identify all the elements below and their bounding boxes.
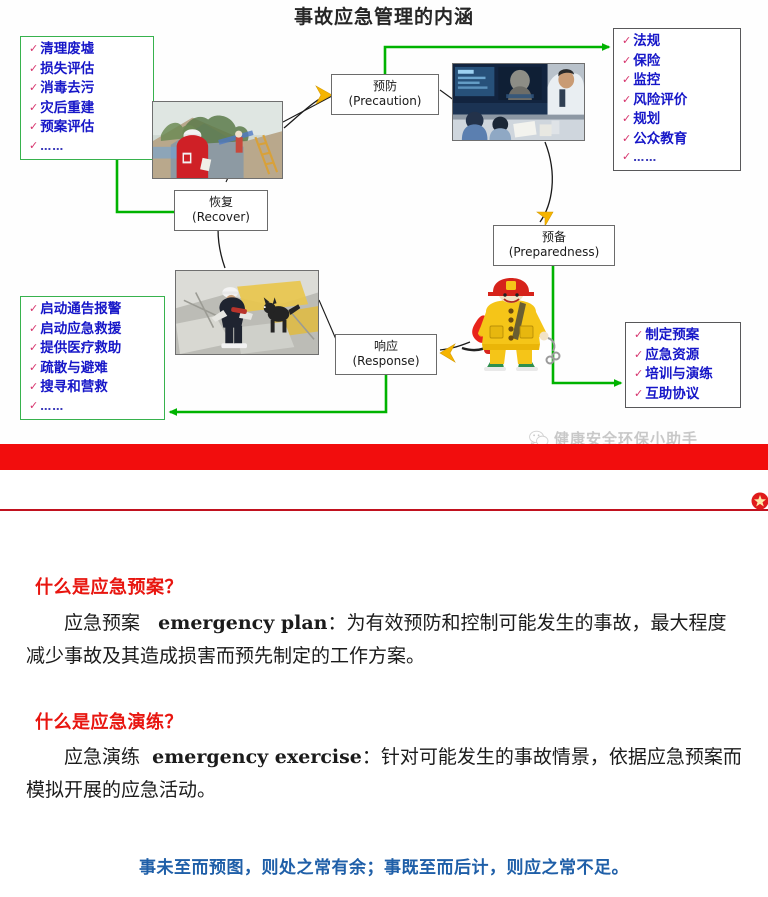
list-item: ✓ 灾后重建 (29, 102, 147, 116)
list-item: ✓ 风险评价 (622, 94, 734, 108)
list-item-label: 规划 (633, 113, 660, 127)
list-item: ✓ 启动通告报警 (29, 303, 158, 317)
list-item-label: 启动通告报警 (40, 303, 121, 317)
red-ornament-icon (749, 488, 768, 514)
check-icon: ✓ (29, 83, 38, 94)
list-item-label: 提供医疗救助 (40, 342, 121, 356)
firefighter-clipart (460, 278, 566, 378)
stage-label-cn: 预备 (496, 230, 612, 245)
list-item: ✓ 损失评估 (29, 63, 147, 77)
list-item: ✓ 提供医疗救助 (29, 342, 158, 356)
list-item: ✓ …… (29, 141, 147, 153)
list-item: ✓ 预案评估 (29, 121, 147, 135)
precaution-outputs-panel: ✓ 法规 ✓ 保险 ✓ 监控 ✓ 风险评价 ✓ 规划 ✓ 公众教育 ✓ …… (613, 28, 741, 171)
check-icon: ✓ (622, 75, 631, 86)
list-item-label: 预案评估 (40, 121, 94, 135)
check-icon: ✓ (29, 44, 38, 55)
check-icon: ✓ (29, 401, 38, 412)
check-icon: ✓ (29, 343, 38, 354)
list-item-label: 应急资源 (645, 349, 699, 363)
list-item-label: 灾后重建 (40, 102, 94, 116)
check-icon: ✓ (634, 350, 643, 361)
check-icon: ✓ (29, 324, 38, 335)
list-item: ✓ 启动应急救援 (29, 323, 158, 337)
para-exercise-en: emergency exercise (152, 746, 362, 768)
check-icon: ✓ (622, 152, 631, 163)
page-title: 事故应急管理的内涵 (0, 2, 768, 29)
check-icon: ✓ (29, 304, 38, 315)
list-item: ✓ 疏散与避难 (29, 362, 158, 376)
preparedness-outputs-panel: ✓ 制定预案 ✓ 应急资源 ✓ 培训与演练 ✓ 互助协议 (625, 322, 741, 408)
list-item-label: 损失评估 (40, 63, 94, 77)
check-icon: ✓ (29, 103, 38, 114)
check-icon: ✓ (622, 114, 631, 125)
red-divider-band (0, 444, 768, 470)
list-item: ✓ 清理废墟 (29, 43, 147, 57)
check-icon: ✓ (622, 134, 631, 145)
list-item-label: …… (40, 141, 64, 152)
check-icon: ✓ (29, 122, 38, 133)
list-item-label: 消毒去污 (40, 82, 94, 96)
red-divider-rule (0, 509, 768, 511)
list-item: ✓ 保险 (622, 55, 734, 69)
list-item-label: 监控 (633, 74, 660, 88)
para-plan-en: emergency plan (158, 612, 327, 634)
list-item: ✓ …… (29, 401, 158, 413)
closing-quote: 事未至而预图，则处之常有余；事既至而后计，则应之常不足。 (0, 853, 768, 878)
list-item-label: 启动应急救援 (40, 323, 121, 337)
list-item-label: 清理废墟 (40, 43, 94, 57)
stage-box-recover: 恢复 (Recover) (174, 190, 268, 231)
stage-box-preparedness: 预备 (Preparedness) (493, 225, 615, 266)
list-item-label: 互助协议 (645, 388, 699, 402)
stage-label-cn: 恢复 (177, 195, 265, 210)
heading-emergency-exercise: 什么是应急演练？ (35, 708, 183, 734)
stage-label-en: (Recover) (177, 210, 265, 225)
list-item: ✓ 互助协议 (634, 388, 734, 402)
stage-label-cn: 响应 (338, 339, 434, 354)
list-item-label: 风险评价 (633, 94, 687, 108)
list-item: ✓ 培训与演练 (634, 368, 734, 382)
check-icon: ✓ (29, 382, 38, 393)
para-exercise-lead: 应急演练 (64, 746, 140, 768)
list-item: ✓ 规划 (622, 113, 734, 127)
article-body: 什么是应急预案？ 应急预案 emergency plan：为有效预防和控制可能发… (0, 515, 768, 897)
list-item-label: 搜寻和营救 (40, 381, 108, 395)
list-item: ✓ 搜寻和营救 (29, 381, 158, 395)
stage-label-en: (Response) (338, 354, 434, 369)
paragraph-emergency-exercise: 应急演练 emergency exercise：针对可能发生的事故情景，依据应急… (26, 741, 744, 806)
list-item-label: …… (633, 152, 657, 163)
list-item-label: …… (40, 401, 64, 412)
list-item: ✓ …… (622, 152, 734, 164)
check-icon: ✓ (29, 363, 38, 374)
photo-command-meeting (452, 63, 585, 141)
stage-box-response: 响应 (Response) (335, 334, 437, 375)
recover-outputs-panel: ✓ 清理废墟 ✓ 损失评估 ✓ 消毒去污 ✓ 灾后重建 ✓ 预案评估 ✓ …… (20, 36, 154, 160)
check-icon: ✓ (634, 330, 643, 341)
stage-label-en: (Precaution) (334, 94, 436, 109)
list-item-label: 公众教育 (633, 133, 687, 147)
emergency-management-diagram: 事故应急管理的内涵 ✓ 清理废墟 ✓ 损失评估 ✓ 消毒去污 ✓ 灾后重建 ✓ … (0, 0, 768, 444)
stage-label-cn: 预防 (334, 79, 436, 94)
photo-recovery-rebuild (152, 101, 283, 179)
check-icon: ✓ (634, 389, 643, 400)
check-icon: ✓ (622, 36, 631, 47)
list-item: ✓ 监控 (622, 74, 734, 88)
stage-label-en: (Preparedness) (496, 245, 612, 260)
list-item: ✓ 公众教育 (622, 133, 734, 147)
list-item-label: 培训与演练 (645, 368, 713, 382)
check-icon: ✓ (29, 141, 38, 152)
stage-box-precaution: 预防 (Precaution) (331, 74, 439, 115)
para-plan-lead: 应急预案 (64, 612, 140, 634)
photo-rubble-rescue (175, 270, 319, 355)
list-item-label: 法规 (633, 35, 660, 49)
response-outputs-panel: ✓ 启动通告报警 ✓ 启动应急救援 ✓ 提供医疗救助 ✓ 疏散与避难 ✓ 搜寻和… (20, 296, 165, 420)
list-item: ✓ 应急资源 (634, 349, 734, 363)
list-item-label: 制定预案 (645, 329, 699, 343)
check-icon: ✓ (622, 95, 631, 106)
check-icon: ✓ (622, 56, 631, 67)
list-item: ✓ 消毒去污 (29, 82, 147, 96)
paragraph-emergency-plan: 应急预案 emergency plan：为有效预防和控制可能发生的事故，最大程度… (26, 607, 744, 672)
list-item-label: 疏散与避难 (40, 362, 108, 376)
check-icon: ✓ (634, 369, 643, 380)
heading-emergency-plan: 什么是应急预案？ (35, 573, 183, 599)
list-item-label: 保险 (633, 55, 660, 69)
list-item: ✓ 法规 (622, 35, 734, 49)
list-item: ✓ 制定预案 (634, 329, 734, 343)
check-icon: ✓ (29, 64, 38, 75)
